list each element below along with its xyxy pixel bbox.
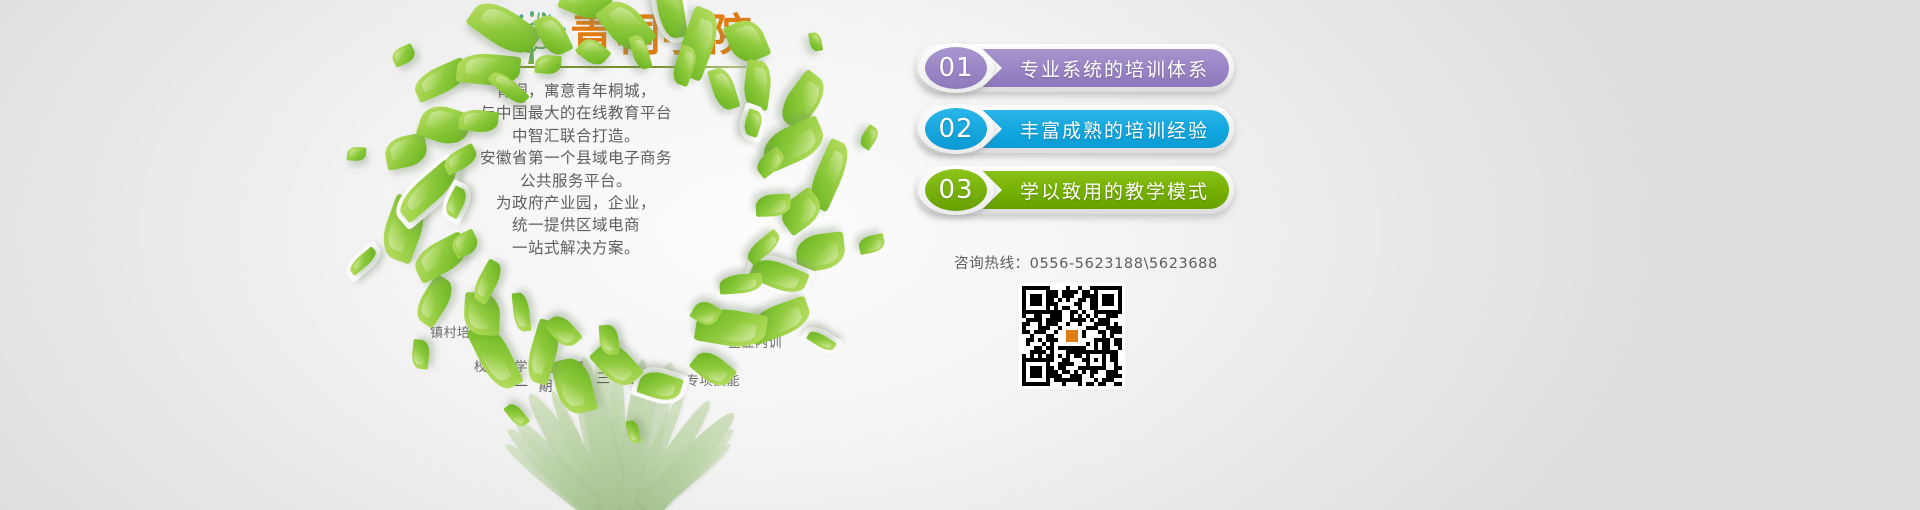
hero-banner: 青桐学院 青桐，寓意青年桐城，与中国最大的在线教育平台中智汇联合打造。安徽省第一…: [0, 0, 1920, 510]
leaf-icon: [458, 107, 499, 134]
leaf-shape: [806, 329, 837, 354]
leaf-icon: [347, 146, 367, 162]
leaf-shape: [410, 339, 429, 370]
leaf-shape: [857, 124, 881, 151]
leaf-icon: [382, 132, 429, 170]
leaf-icon: [599, 323, 620, 355]
leaf-icon: [389, 43, 416, 67]
badge-number-03: 03: [925, 169, 987, 211]
feature-badge-02[interactable]: 02 丰富成熟的培训经验: [916, 105, 1234, 153]
badge-label-02: 丰富成熟的培训经验: [1020, 105, 1224, 153]
leaf-icon: [410, 274, 458, 329]
feature-badge-03[interactable]: 03 学以致用的教学模式: [916, 166, 1234, 214]
leaf-shape: [347, 146, 367, 162]
leaf-icon: [857, 234, 886, 256]
leaf-shape: [347, 246, 379, 276]
leaf-shape: [718, 273, 763, 295]
feature-badge-01[interactable]: 01 专业系统的培训体系: [916, 44, 1234, 92]
leaf-icon: [511, 291, 531, 332]
badge-number-circle: 03: [918, 165, 994, 215]
description-line-6: 为政府产业园，企业，: [430, 192, 722, 214]
leaf-icon: [806, 329, 837, 354]
badge-number-circle: 01: [918, 43, 994, 93]
hotline-text: 咨询热线：0556-5623188\5623688: [916, 252, 1256, 273]
leaf-shape: [410, 274, 458, 329]
leaf-shape: [511, 291, 531, 332]
wechat-qr-code[interactable]: [1019, 283, 1125, 389]
badge-label-01: 专业系统的培训体系: [1020, 44, 1224, 92]
leaf-shape: [808, 32, 823, 53]
leaf-icon: [718, 273, 763, 295]
leaf-icon: [808, 32, 823, 53]
leaf-icon: [534, 54, 562, 75]
badge-number-circle: 02: [918, 104, 994, 154]
description-line-5: 公共服务平台。: [430, 170, 722, 192]
leaf-shape: [741, 108, 764, 138]
leaf-icon: [347, 246, 379, 276]
leaf-shape: [389, 43, 416, 67]
leaf-icon: [410, 339, 429, 370]
leaf-icon: [741, 108, 764, 138]
logo-divider: [494, 66, 746, 68]
badge-number-01: 01: [925, 47, 987, 89]
badge-label-03: 学以致用的教学模式: [1020, 166, 1224, 214]
feature-badge-list: 01 专业系统的培训体系 02 丰富成熟的培训经验 03 学以致用的教学模式: [916, 44, 1234, 227]
leaf-shape: [534, 54, 562, 75]
leaf-shape: [382, 132, 429, 170]
leaf-icon: [469, 258, 507, 305]
badge-number-02: 02: [925, 108, 987, 150]
leaf-shape: [857, 234, 886, 256]
leaf-shape: [599, 323, 620, 355]
leaf-shape: [469, 258, 507, 305]
leaf-icon: [857, 124, 881, 151]
leaf-shape: [458, 107, 499, 134]
leaf-shape: [756, 193, 791, 217]
leaf-icon: [756, 193, 791, 217]
